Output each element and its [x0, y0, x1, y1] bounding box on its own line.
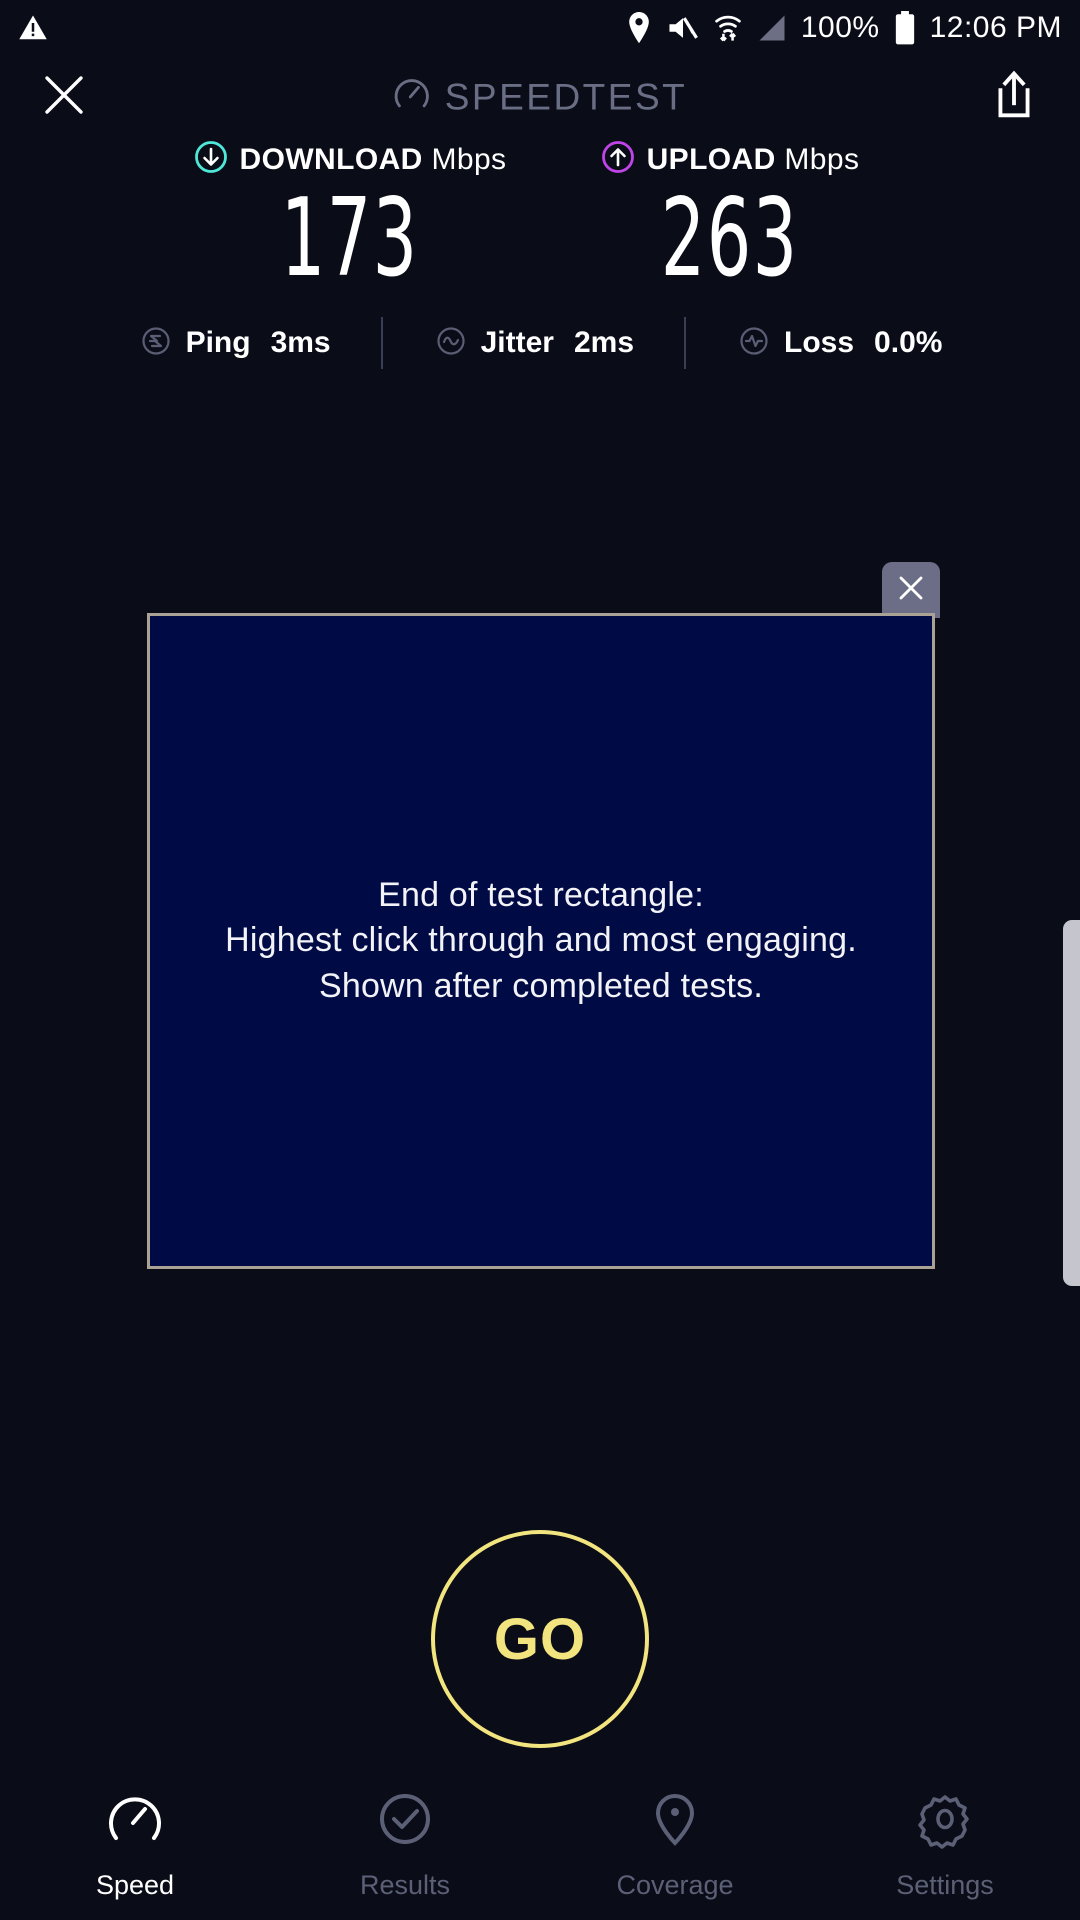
scrollbar-thumb[interactable] — [1063, 920, 1080, 1286]
download-upload-row: DOWNLOAD Mbps 173 UPLOAD Mbps — [0, 140, 1080, 293]
nav-label-speed: Speed — [96, 1870, 174, 1901]
warning-triangle-icon — [18, 13, 48, 43]
ad-line-1: End of test rectangle: — [225, 873, 857, 918]
download-label: DOWNLOAD Mbps — [240, 143, 507, 177]
ping-metric: Ping 3ms — [138, 323, 331, 364]
upload-arrow-icon — [601, 140, 635, 179]
cell-signal-icon — [757, 14, 787, 42]
status-bar: 100% 12:06 PM — [0, 0, 1080, 56]
check-circle-icon — [375, 1789, 435, 1854]
ping-jitter-loss-row: Ping 3ms Jitter 2ms — [0, 317, 1080, 369]
battery-full-icon — [894, 11, 916, 45]
jitter-label: Jitter — [481, 326, 554, 360]
go-button[interactable]: GO — [431, 1530, 649, 1748]
results-panel: DOWNLOAD Mbps 173 UPLOAD Mbps — [0, 140, 1080, 369]
bottom-navigation-bar: Speed Results Coverage — [0, 1770, 1080, 1920]
share-icon — [991, 69, 1037, 126]
jitter-icon — [433, 323, 469, 364]
status-bar-left — [18, 13, 48, 43]
nav-item-settings[interactable]: Settings — [810, 1789, 1080, 1901]
close-icon — [896, 573, 926, 608]
mute-icon — [667, 13, 699, 43]
jitter-metric: Jitter 2ms — [433, 323, 634, 364]
battery-percent-label: 100% — [801, 11, 880, 45]
download-header: DOWNLOAD Mbps — [194, 140, 507, 179]
loss-metric: Loss 0.0% — [736, 323, 942, 364]
nav-label-results: Results — [360, 1870, 450, 1901]
ad-text: End of test rectangle: Highest click thr… — [225, 873, 857, 1009]
gear-icon — [915, 1789, 975, 1854]
nav-label-settings: Settings — [896, 1870, 994, 1901]
page-title: SPEEDTEST — [445, 76, 688, 118]
upload-label: UPLOAD Mbps — [647, 143, 860, 177]
upload-header: UPLOAD Mbps — [601, 140, 860, 179]
app-header: SPEEDTEST — [0, 56, 1080, 138]
nav-item-results[interactable]: Results — [270, 1789, 540, 1901]
nav-item-speed[interactable]: Speed — [0, 1789, 270, 1901]
wifi-transfer-icon — [713, 12, 743, 44]
advertisement-banner[interactable]: End of test rectangle: Highest click thr… — [147, 613, 935, 1269]
speedometer-icon — [393, 76, 431, 119]
nav-label-coverage: Coverage — [616, 1870, 733, 1901]
upload-metric: UPLOAD Mbps 263 — [540, 140, 920, 293]
download-arrow-icon — [194, 140, 228, 179]
ping-value: 3ms — [271, 326, 331, 360]
download-value: 173 — [281, 185, 419, 293]
jitter-value: 2ms — [574, 326, 634, 360]
speedometer-icon — [105, 1789, 165, 1854]
status-bar-right: 100% 12:06 PM — [625, 11, 1062, 45]
ad-line-3: Shown after completed tests. — [225, 964, 857, 1009]
location-pin-icon — [625, 12, 653, 44]
loss-label: Loss — [784, 326, 854, 360]
ping-label: Ping — [186, 326, 251, 360]
loss-value: 0.0% — [874, 326, 942, 360]
close-icon — [40, 71, 88, 124]
loss-icon — [736, 323, 772, 364]
ad-line-2: Highest click through and most engaging. — [225, 918, 857, 963]
upload-value: 263 — [661, 185, 799, 293]
divider — [684, 317, 686, 369]
status-bar-clock: 12:06 PM — [930, 11, 1062, 45]
ad-close-button[interactable] — [882, 562, 940, 618]
nav-item-coverage[interactable]: Coverage — [540, 1789, 810, 1901]
app-title-group: SPEEDTEST — [393, 76, 688, 119]
go-button-label: GO — [494, 1606, 586, 1673]
download-metric: DOWNLOAD Mbps 173 — [160, 140, 540, 293]
share-button[interactable] — [986, 67, 1042, 127]
location-pin-icon — [645, 1789, 705, 1854]
speedtest-app-screen: 100% 12:06 PM SPEEDTEST — [0, 0, 1080, 1920]
divider — [381, 317, 383, 369]
ping-icon — [138, 323, 174, 364]
close-button[interactable] — [36, 69, 92, 125]
